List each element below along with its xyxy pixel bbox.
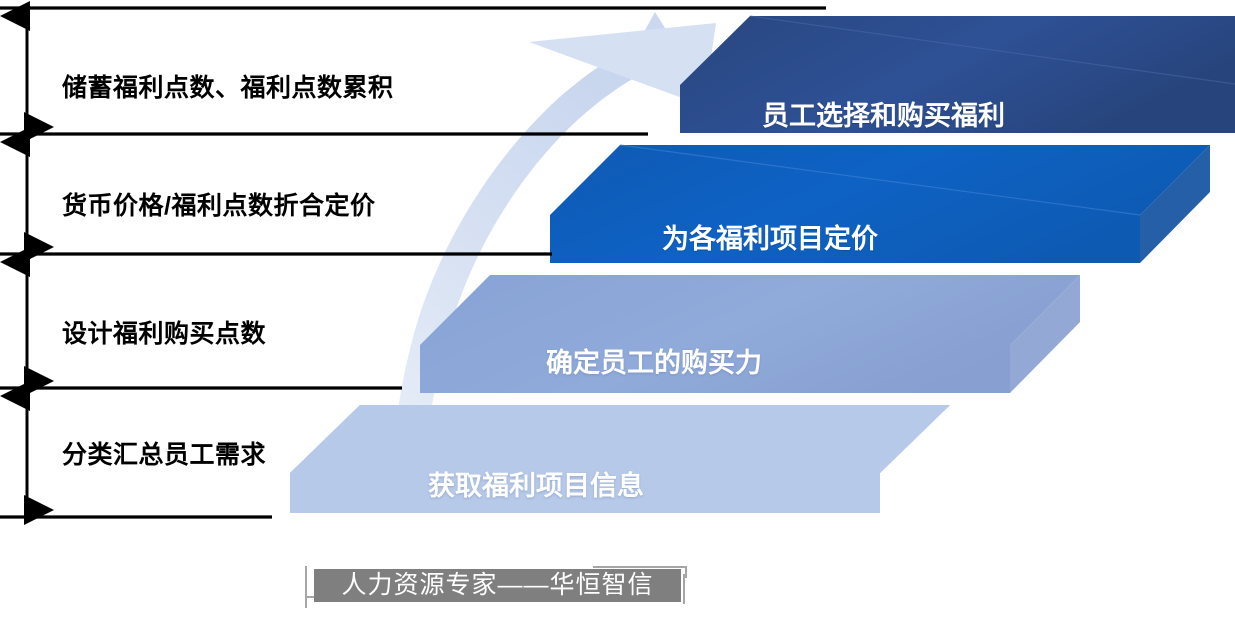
footer-watermark: 人力资源专家——华恒智信 (305, 566, 685, 606)
footer-layer: 人力资源专家——华恒智信 (0, 0, 1235, 625)
footer-corner-bottom-right-icon (683, 574, 685, 604)
slide-canvas: 储蓄福利点数、福利点数累积 货币价格/福利点数折合定价 设计福利购买点数 分类汇… (0, 0, 1235, 625)
footer-text: 人力资源专家——华恒智信 (314, 569, 681, 602)
footer-corner-top-left-icon (305, 566, 307, 596)
